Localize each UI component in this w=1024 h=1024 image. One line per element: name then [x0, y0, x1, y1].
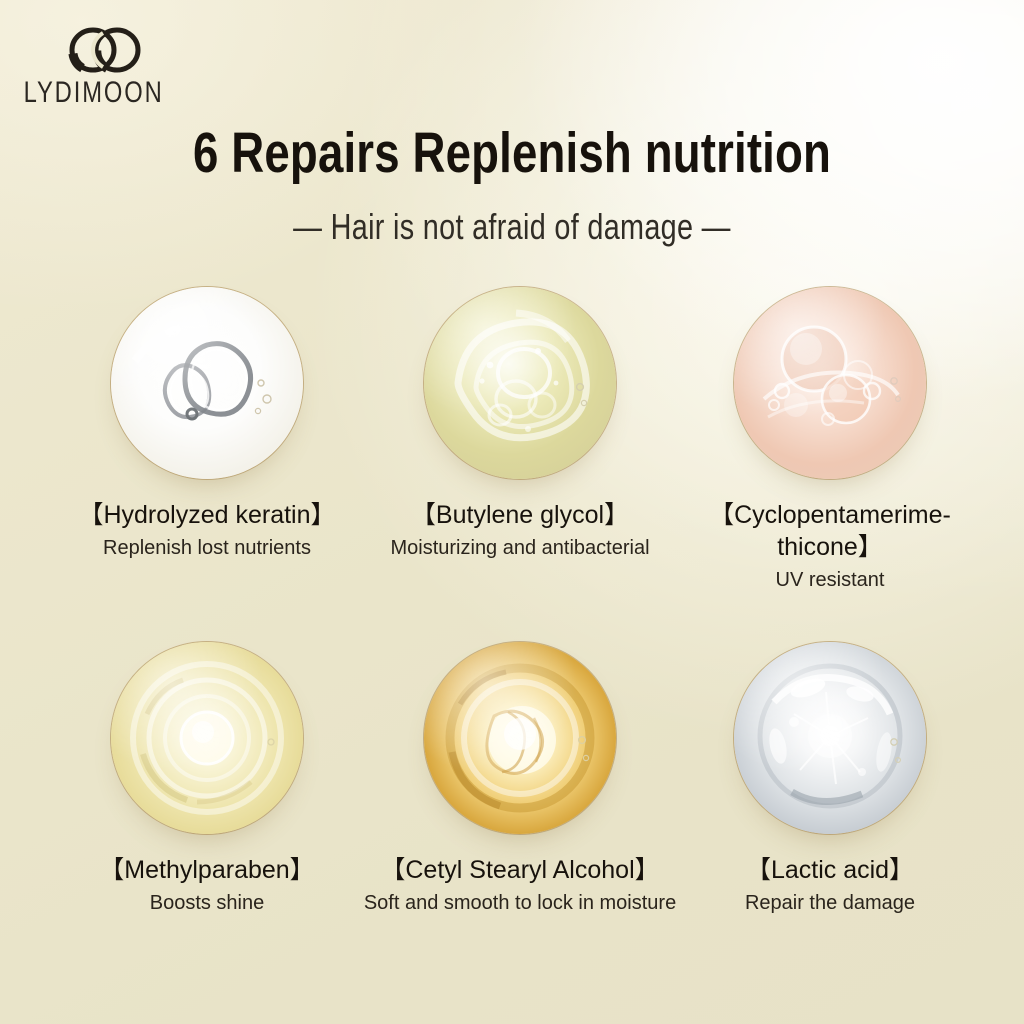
swatch-wrap — [42, 638, 372, 848]
green-gel-droplet-icon — [424, 287, 616, 479]
ingredient-name: 【Lactic acid】 — [665, 854, 995, 886]
pale-oil-droplet-icon — [111, 642, 303, 834]
ingredient-desc: Repair the damage — [665, 890, 995, 917]
ingredient-desc: Soft and smooth to lock in moisture — [355, 890, 685, 917]
swatch-wrap — [355, 638, 685, 848]
ingredient-desc: Boosts shine — [42, 890, 372, 917]
brand-wordmark: LYDIMOON — [16, 76, 216, 110]
ingredient-card-lactic-acid: 【Lactic acid】 Repair the damage — [665, 638, 995, 917]
product-infographic: LYDIMOON 6 Repairs Replenish nutrition —… — [0, 0, 1024, 1024]
silver-crystal-droplet-icon — [734, 642, 926, 834]
ingredient-card-butylene-glycol: 【Butylene glycol】 Moisturizing and antib… — [355, 283, 685, 562]
swatch-wrap — [665, 283, 995, 493]
two-overlapping-rings-icon — [62, 22, 148, 78]
page-title: 6 Repairs Replenish nutrition — [102, 122, 921, 184]
golden-oil-droplet-icon — [424, 642, 616, 834]
ingredient-card-cyclopentamerimethicone: 【Cyclopentamerime- thicone】 UV resistant — [665, 283, 995, 594]
ingredient-name: 【Methylparaben】 — [42, 854, 372, 886]
swatch-wrap — [665, 638, 995, 848]
page-subtitle: — Hair is not afraid of damage — — [102, 206, 921, 248]
ingredient-name: 【Cetyl Stearyl Alcohol】 — [355, 854, 685, 886]
ingredient-card-hydrolyzed-keratin: 【Hydrolyzed keratin】 Replenish lost nutr… — [42, 283, 372, 562]
ingredient-card-cetyl-stearyl-alcohol: 【Cetyl Stearyl Alcohol】 Soft and smooth … — [355, 638, 685, 917]
ingredient-desc: Moisturizing and antibacterial — [355, 535, 685, 562]
ingredient-name: 【Cyclopentamerime- thicone】 — [665, 499, 995, 563]
swatch-wrap — [42, 283, 372, 493]
ingredient-desc: UV resistant — [665, 567, 995, 594]
ingredient-name: 【Butylene glycol】 — [355, 499, 685, 531]
ingredient-name: 【Hydrolyzed keratin】 — [42, 499, 372, 531]
ingredient-card-methylparaben: 【Methylparaben】 Boosts shine — [42, 638, 372, 917]
swatch-wrap — [355, 283, 685, 493]
pink-bubble-droplet-icon — [734, 287, 926, 479]
brand-logo: LYDIMOON — [16, 22, 226, 105]
ingredient-desc: Replenish lost nutrients — [42, 535, 372, 562]
clear-keratin-droplet-icon — [111, 287, 303, 479]
